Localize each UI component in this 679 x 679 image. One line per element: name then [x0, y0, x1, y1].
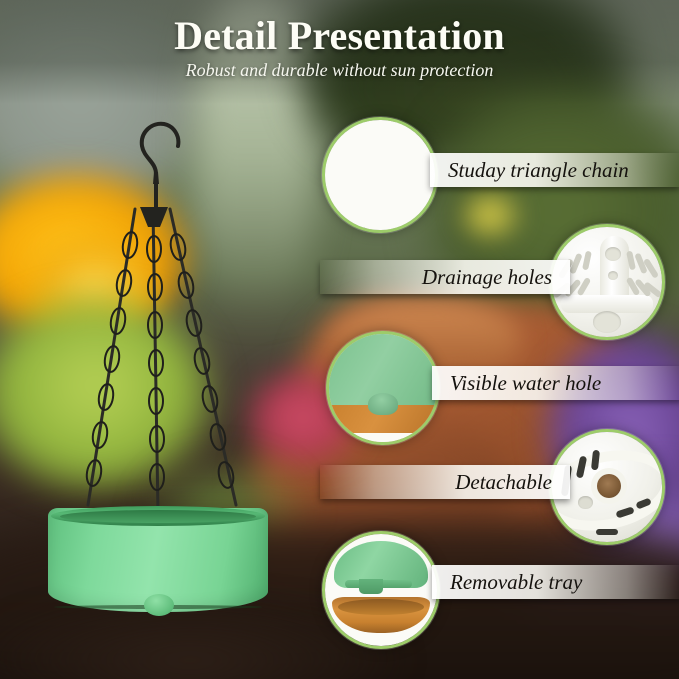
- water-level-nub: [144, 594, 174, 616]
- callout-label-sturdy-triangle-chain: Studay triangle chain: [430, 153, 679, 187]
- callout-label-drainage-holes: Drainage holes: [320, 260, 570, 294]
- water-hole-icon: [326, 331, 440, 445]
- chain-hook-icon: [322, 117, 438, 233]
- removable-tray-icon: [322, 531, 440, 649]
- callout-label-visible-water-hole: Visible water hole: [432, 366, 679, 400]
- hanging-planter-product: [0, 0, 330, 679]
- triangle-chain: [40, 205, 270, 535]
- planter-pot: [48, 508, 268, 648]
- detail-presentation-infographic: Detail Presentation Robust and durable w…: [0, 0, 679, 679]
- s-hook-icon: [128, 112, 184, 220]
- callout-label-removable-tray: Removable tray: [432, 565, 679, 599]
- callout-label-detachable: Detachable: [320, 465, 570, 499]
